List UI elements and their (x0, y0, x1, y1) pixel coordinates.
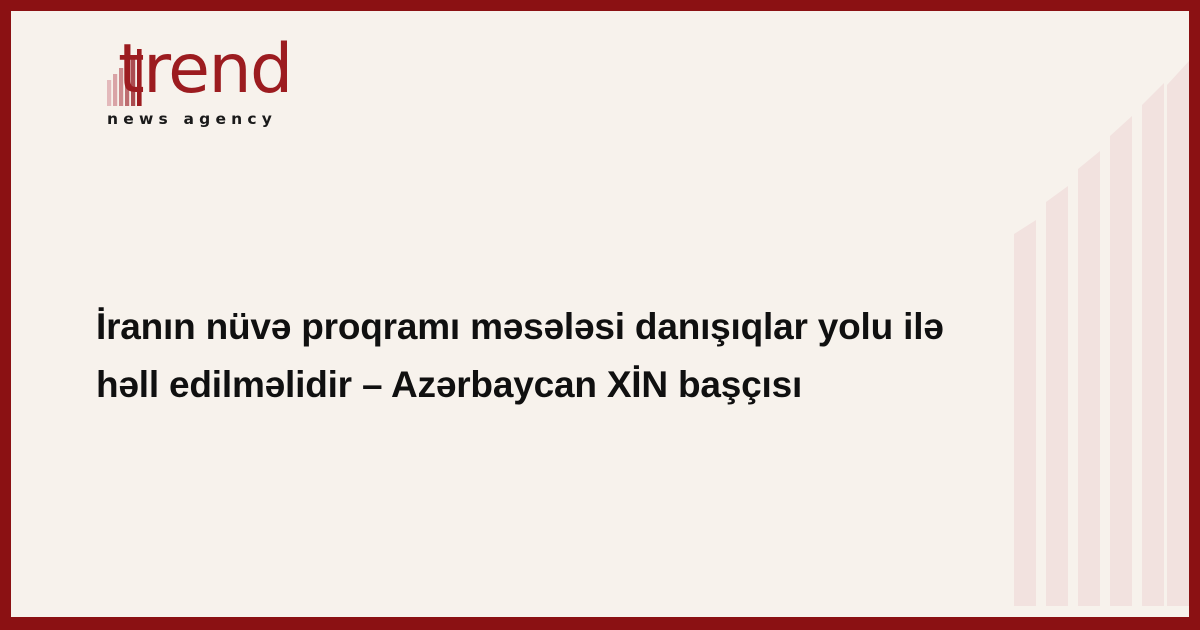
logo-tagline: news agency (107, 110, 277, 128)
watermark-bar (1142, 83, 1164, 606)
logo-wordmark: trend (118, 36, 292, 104)
watermark-bar (1167, 61, 1189, 606)
watermark-bar (1078, 151, 1100, 606)
trend-news-agency-logo[interactable]: trend news agency (96, 44, 376, 136)
social-share-card: trend news agency İranın nüvə proqramı m… (0, 0, 1200, 630)
ascending-bars-watermark (1014, 11, 1189, 617)
article-headline: İranın nüvə proqramı məsələsi danışıqlar… (96, 298, 986, 414)
watermark-bar (1014, 220, 1036, 606)
watermark-bar (1046, 186, 1068, 606)
card-inner-surface: trend news agency İranın nüvə proqramı m… (11, 11, 1189, 617)
watermark-bar (1110, 116, 1132, 606)
